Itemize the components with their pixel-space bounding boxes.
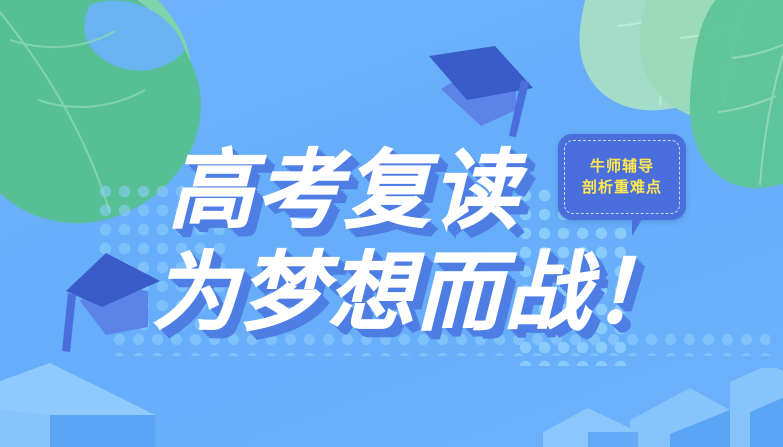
promo-badge-line-1: 牛师辅导 (590, 159, 654, 175)
headline-line-2: 为梦想而战！ (152, 250, 680, 336)
promo-banner: 高考复读 为梦想而战！ 牛师辅导 剖析重难点 (0, 0, 783, 447)
promo-badge[interactable]: 牛师辅导 剖析重难点 (558, 134, 686, 220)
headline-line-1: 高考复读 (168, 148, 520, 234)
headline-block: 高考复读 为梦想而战！ (0, 0, 783, 447)
promo-badge-tail-icon (632, 214, 645, 236)
promo-badge-line-2: 剖析重难点 (582, 180, 662, 196)
promo-badge-inner: 牛师辅导 剖析重难点 (564, 140, 680, 214)
